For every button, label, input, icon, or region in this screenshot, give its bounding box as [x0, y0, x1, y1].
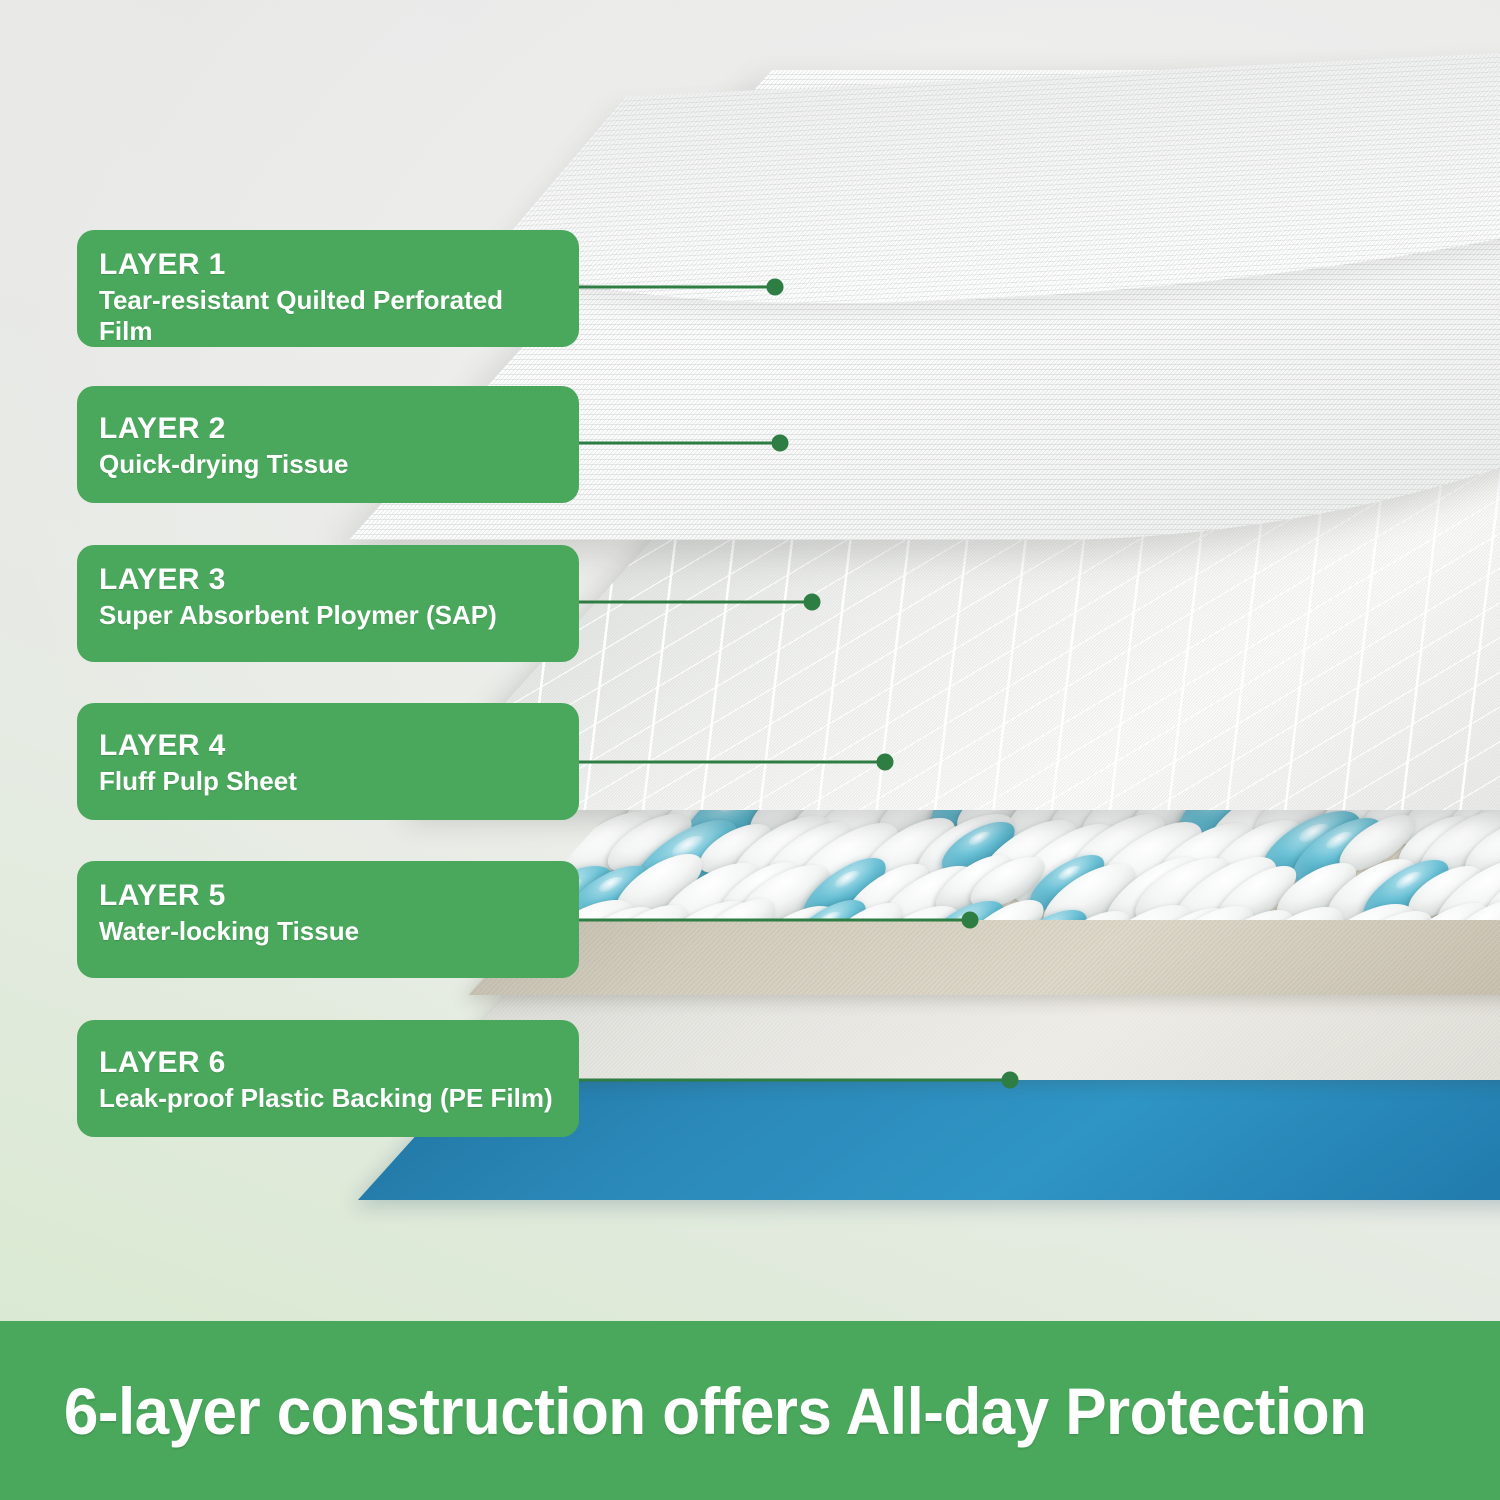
leader-dot-6 [1003, 1073, 1017, 1087]
leader-dot-2 [773, 436, 787, 450]
layer-5-description: Water-locking Tissue [99, 916, 557, 948]
banner-headline: 6-layer construction offers All-day Prot… [0, 1373, 1366, 1449]
layer-label-6[interactable]: LAYER 6 Leak-proof Plastic Backing (PE F… [77, 1020, 579, 1137]
layer-6-title: LAYER 6 [99, 1046, 557, 1080]
infographic-page: LAYER 1 Tear-resistant Quilted Perforate… [0, 0, 1500, 1500]
bottom-banner: 6-layer construction offers All-day Prot… [0, 1321, 1500, 1500]
layer-label-3[interactable]: LAYER 3 Super Absorbent Ploymer (SAP) [77, 545, 579, 662]
leader-dot-4 [878, 755, 892, 769]
layer-3-description: Super Absorbent Ploymer (SAP) [99, 600, 557, 632]
layer-4-description: Fluff Pulp Sheet [99, 766, 557, 798]
leader-dot-1 [768, 280, 782, 294]
layer-3-title: LAYER 3 [99, 563, 557, 597]
layer-label-5[interactable]: LAYER 5 Water-locking Tissue [77, 861, 579, 978]
layer-2-description: Quick-drying Tissue [99, 449, 557, 481]
layer-label-4[interactable]: LAYER 4 Fluff Pulp Sheet [77, 703, 579, 820]
layer-label-1[interactable]: LAYER 1 Tear-resistant Quilted Perforate… [77, 230, 579, 347]
layer-1-title: LAYER 1 [99, 248, 557, 282]
leader-dot-5 [963, 913, 977, 927]
layer-1-description: Tear-resistant Quilted Perforated Film [99, 285, 557, 348]
layer-label-2[interactable]: LAYER 2 Quick-drying Tissue [77, 386, 579, 503]
layer-6-description: Leak-proof Plastic Backing (PE Film) [99, 1083, 557, 1115]
layer-2-title: LAYER 2 [99, 412, 557, 446]
leader-dot-3 [805, 595, 819, 609]
layer-4-title: LAYER 4 [99, 729, 557, 763]
layer-5-title: LAYER 5 [99, 879, 557, 913]
